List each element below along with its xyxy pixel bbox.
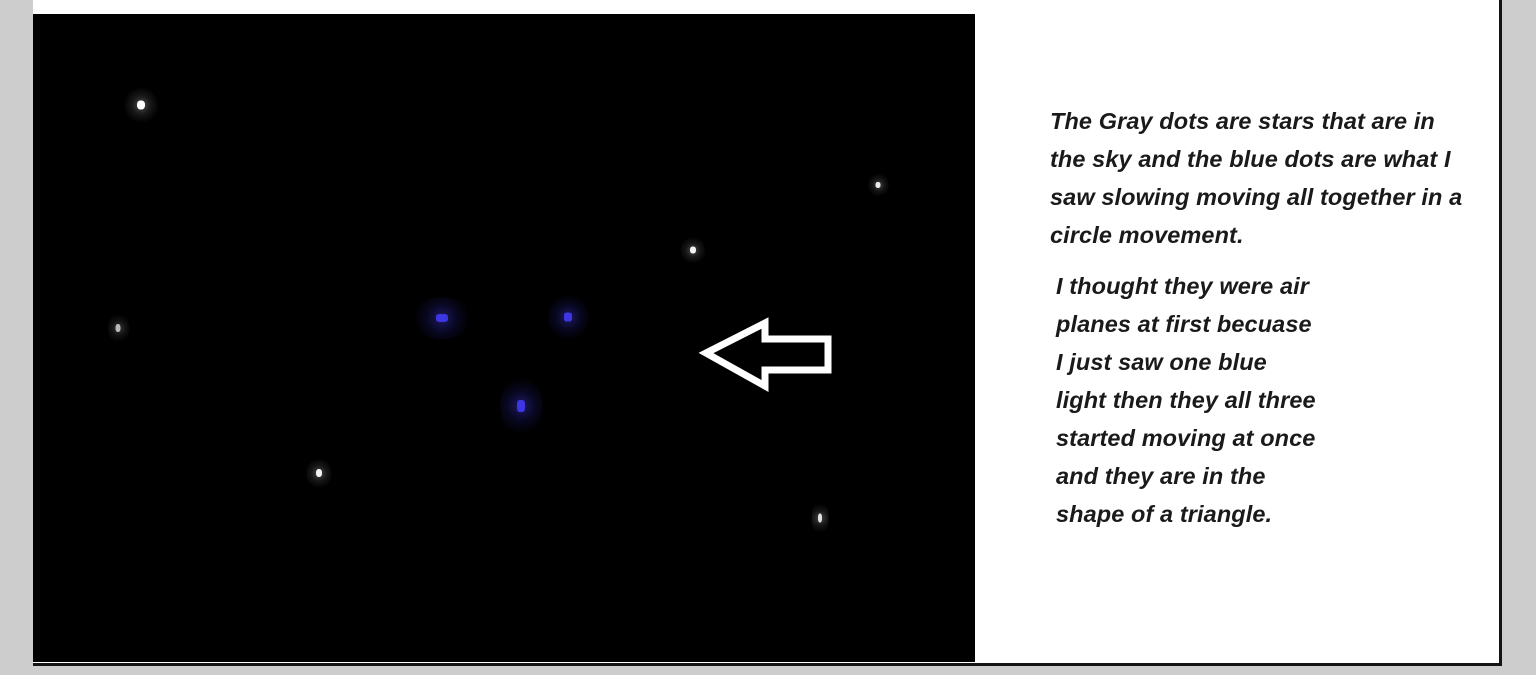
star-1	[137, 101, 145, 110]
blue-dot-left	[436, 314, 448, 322]
caption-p2-line-1: I thought they were air	[1056, 267, 1499, 305]
caption-p2-line-5: started moving at once	[1056, 419, 1499, 457]
caption-paragraph-1: The Gray dots are stars that are inthe s…	[1050, 102, 1499, 254]
caption-p2-line-6: and they are in the	[1056, 457, 1499, 495]
star-5	[316, 469, 322, 477]
caption-p2-line-4: light then they all three	[1056, 381, 1499, 419]
caption-p2-line-2: planes at first becuase	[1056, 305, 1499, 343]
caption-panel: The Gray dots are stars that are inthe s…	[975, 0, 1499, 662]
screenshot-root: The Gray dots are stars that are inthe s…	[0, 0, 1536, 675]
caption-paragraph-2: I thought they were airplanes at first b…	[1050, 267, 1499, 533]
scanned-sheet: The Gray dots are stars that are inthe s…	[33, 0, 1502, 666]
blue-dot-bottom	[517, 400, 525, 412]
star-3	[690, 247, 696, 254]
blue-dot-right	[564, 313, 572, 322]
caption-p1-line-1: The Gray dots are stars that are in	[1050, 102, 1499, 140]
caption-p1-line-2: the sky and the blue dots are what I	[1050, 140, 1499, 178]
star-4	[116, 324, 121, 332]
caption-p1-line-4: circle movement.	[1050, 216, 1499, 254]
star-6	[818, 514, 822, 523]
arrow-outline-shape	[706, 323, 828, 386]
caption-p1-line-3: saw slowing moving all together in a	[1050, 178, 1499, 216]
star-2	[876, 182, 881, 188]
caption-text-block: The Gray dots are stars that are inthe s…	[1050, 102, 1499, 533]
arrow-pointing-left-icon	[673, 306, 843, 406]
night-sky-photo	[33, 14, 975, 662]
caption-p2-line-3: I just saw one blue	[1056, 343, 1499, 381]
caption-p2-line-7: shape of a triangle.	[1056, 495, 1499, 533]
